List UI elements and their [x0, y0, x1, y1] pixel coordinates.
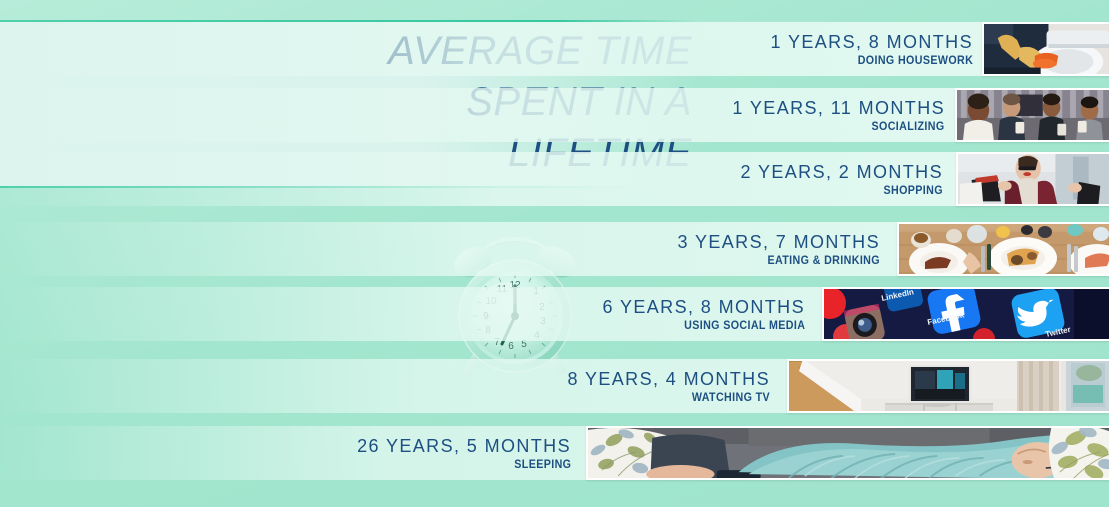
- row-category: SLEEPING: [514, 459, 571, 471]
- row-label-group: 1 YEARS, 11 MONTHS SOCIALIZING: [732, 88, 959, 142]
- infographic-canvas: AVERAGE TIME SPENT IN A LIFETIME: [0, 0, 1109, 507]
- photo-sleeping: [586, 426, 1109, 480]
- photo-eating-drinking: [897, 222, 1109, 276]
- row-label-group: 6 YEARS, 8 MONTHS USING SOCIAL MEDIA: [602, 287, 819, 341]
- row-category: DOING HOUSEWORK: [857, 55, 973, 67]
- photo-housework: [982, 22, 1109, 76]
- bar-row-sleeping: 26 YEARS, 5 MONTHS SLEEPING: [0, 426, 1109, 480]
- svg-text:6: 6: [508, 341, 514, 352]
- row-value: 1 YEARS, 8 MONTHS: [770, 32, 973, 53]
- photo-social-media: LinkedIn Facebook Twitter: [822, 287, 1109, 341]
- row-value: 2 YEARS, 2 MONTHS: [740, 162, 943, 183]
- row-label-group: 2 YEARS, 2 MONTHS SHOPPING: [740, 152, 957, 206]
- photo-watching-tv: [787, 359, 1109, 413]
- row-label-group: 8 YEARS, 4 MONTHS WATCHING TV: [567, 359, 784, 413]
- bar-row-watching-tv: 8 YEARS, 4 MONTHS WATCHING TV: [0, 359, 1109, 413]
- row-value: 1 YEARS, 11 MONTHS: [732, 98, 945, 119]
- row-label-group: 1 YEARS, 8 MONTHS DOING HOUSEWORK: [770, 22, 987, 76]
- bar-row-social-media: 6 YEARS, 8 MONTHS USING SOCIAL MEDIA: [0, 287, 1109, 341]
- bar-row-eating-drinking: 3 YEARS, 7 MONTHS EATING & DRINKING: [0, 222, 1109, 276]
- photo-shopping: [956, 152, 1109, 206]
- row-value: 8 YEARS, 4 MONTHS: [567, 369, 770, 390]
- row-value: 6 YEARS, 8 MONTHS: [602, 297, 805, 318]
- row-category: SOCIALIZING: [872, 121, 945, 133]
- row-category: SHOPPING: [884, 185, 943, 197]
- bar-row-shopping: 2 YEARS, 2 MONTHS SHOPPING: [0, 152, 1109, 206]
- row-value: 3 YEARS, 7 MONTHS: [677, 232, 880, 253]
- row-label-group: 3 YEARS, 7 MONTHS EATING & DRINKING: [677, 222, 894, 276]
- row-category: EATING & DRINKING: [768, 255, 880, 267]
- row-label-group: 26 YEARS, 5 MONTHS SLEEPING: [357, 426, 585, 480]
- photo-socializing: [955, 88, 1109, 142]
- bar-row-housework: 1 YEARS, 8 MONTHS DOING HOUSEWORK: [0, 22, 1109, 76]
- row-category: WATCHING TV: [692, 392, 770, 404]
- row-category: USING SOCIAL MEDIA: [684, 320, 805, 332]
- bar-row-socializing: 1 YEARS, 11 MONTHS SOCIALIZING: [0, 88, 1109, 142]
- row-value: 26 YEARS, 5 MONTHS: [357, 436, 571, 457]
